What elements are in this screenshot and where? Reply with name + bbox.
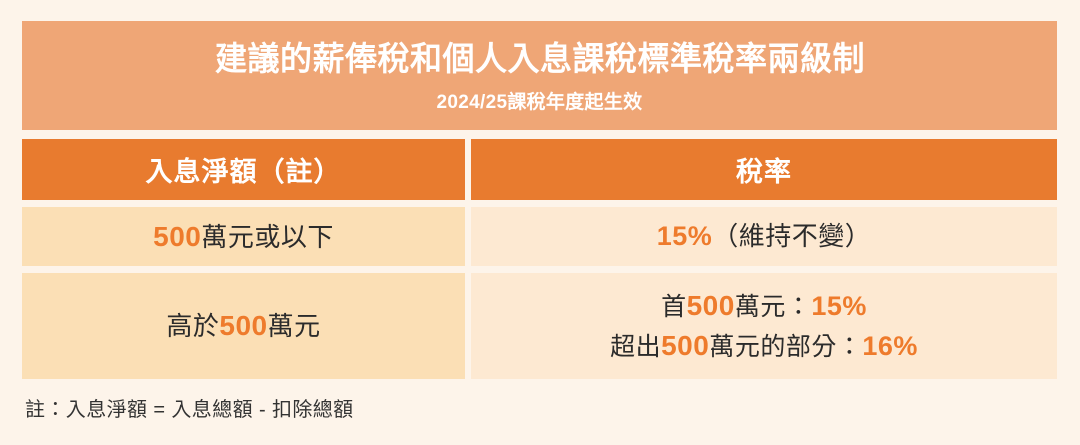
rate-tier-2-line-2: 超出500萬元的部分：16% [610,326,918,366]
column-header-tax-rate: 稅率 [471,139,1057,200]
income-tier-1-amount: 500 [153,221,201,252]
rate-tier-2-line-2-mid: 萬元的部分： [709,333,862,361]
footnote: 註：入息淨額 = 入息總額 - 扣除總額 [25,393,354,422]
tax-rate-infographic: 建議的薪俸稅和個人入息課稅標準稅率兩級制 2024/25課稅年度起生效 入息淨額… [0,0,1080,445]
rate-tier-1-value: 15% [657,221,713,251]
income-tier-2-text: 高於500萬元 [166,306,320,346]
rate-tier-2-line-2-prefix: 超出 [610,333,661,361]
table-row: 高於500萬元 首500萬元：15% 超出500萬元的部分：16% [22,273,1057,379]
rate-tier-2-line-1-mid: 萬元： [735,293,812,321]
rate-tier-2-line-1-amount: 500 [687,290,735,321]
rate-tier-1-note: （維持不變） [712,221,871,251]
cell-rate-tier-1: 15%（維持不變） [471,207,1057,266]
rate-tier-2-line-1: 首500萬元：15% [610,286,918,326]
page-title: 建議的薪俸稅和個人入息課稅標準稅率兩級制 [215,41,865,78]
title-banner: 建議的薪俸稅和個人入息課稅標準稅率兩級制 2024/25課稅年度起生效 [22,21,1057,130]
income-tier-1-suffix: 萬元或以下 [201,222,334,252]
income-tier-2-prefix: 高於 [166,311,219,341]
rate-tier-2-line-2-amount: 500 [661,330,709,361]
income-tier-2-amount: 500 [219,310,267,341]
rate-tier-2-line-2-value: 16% [862,331,918,361]
tax-rate-table: 入息淨額（註） 稅率 500萬元或以下 15%（維持不變） 高於500萬元 首5… [22,139,1057,379]
rate-tier-2-line-1-prefix: 首 [661,293,687,321]
income-tier-1-text: 500萬元或以下 [153,217,334,257]
page-subtitle: 2024/25課稅年度起生效 [437,87,643,114]
cell-income-tier-2: 高於500萬元 [22,273,465,379]
income-tier-2-suffix: 萬元 [268,311,321,341]
rate-tier-2-line-1-value: 15% [811,291,867,321]
cell-rate-tier-2: 首500萬元：15% 超出500萬元的部分：16% [471,273,1057,379]
table-header-row: 入息淨額（註） 稅率 [22,139,1057,200]
rate-tier-1-text: 15%（維持不變） [657,217,872,255]
column-header-net-income: 入息淨額（註） [22,139,465,200]
cell-income-tier-1: 500萬元或以下 [22,207,465,266]
table-row: 500萬元或以下 15%（維持不變） [22,207,1057,266]
rate-tier-2-text: 首500萬元：15% 超出500萬元的部分：16% [610,286,918,366]
